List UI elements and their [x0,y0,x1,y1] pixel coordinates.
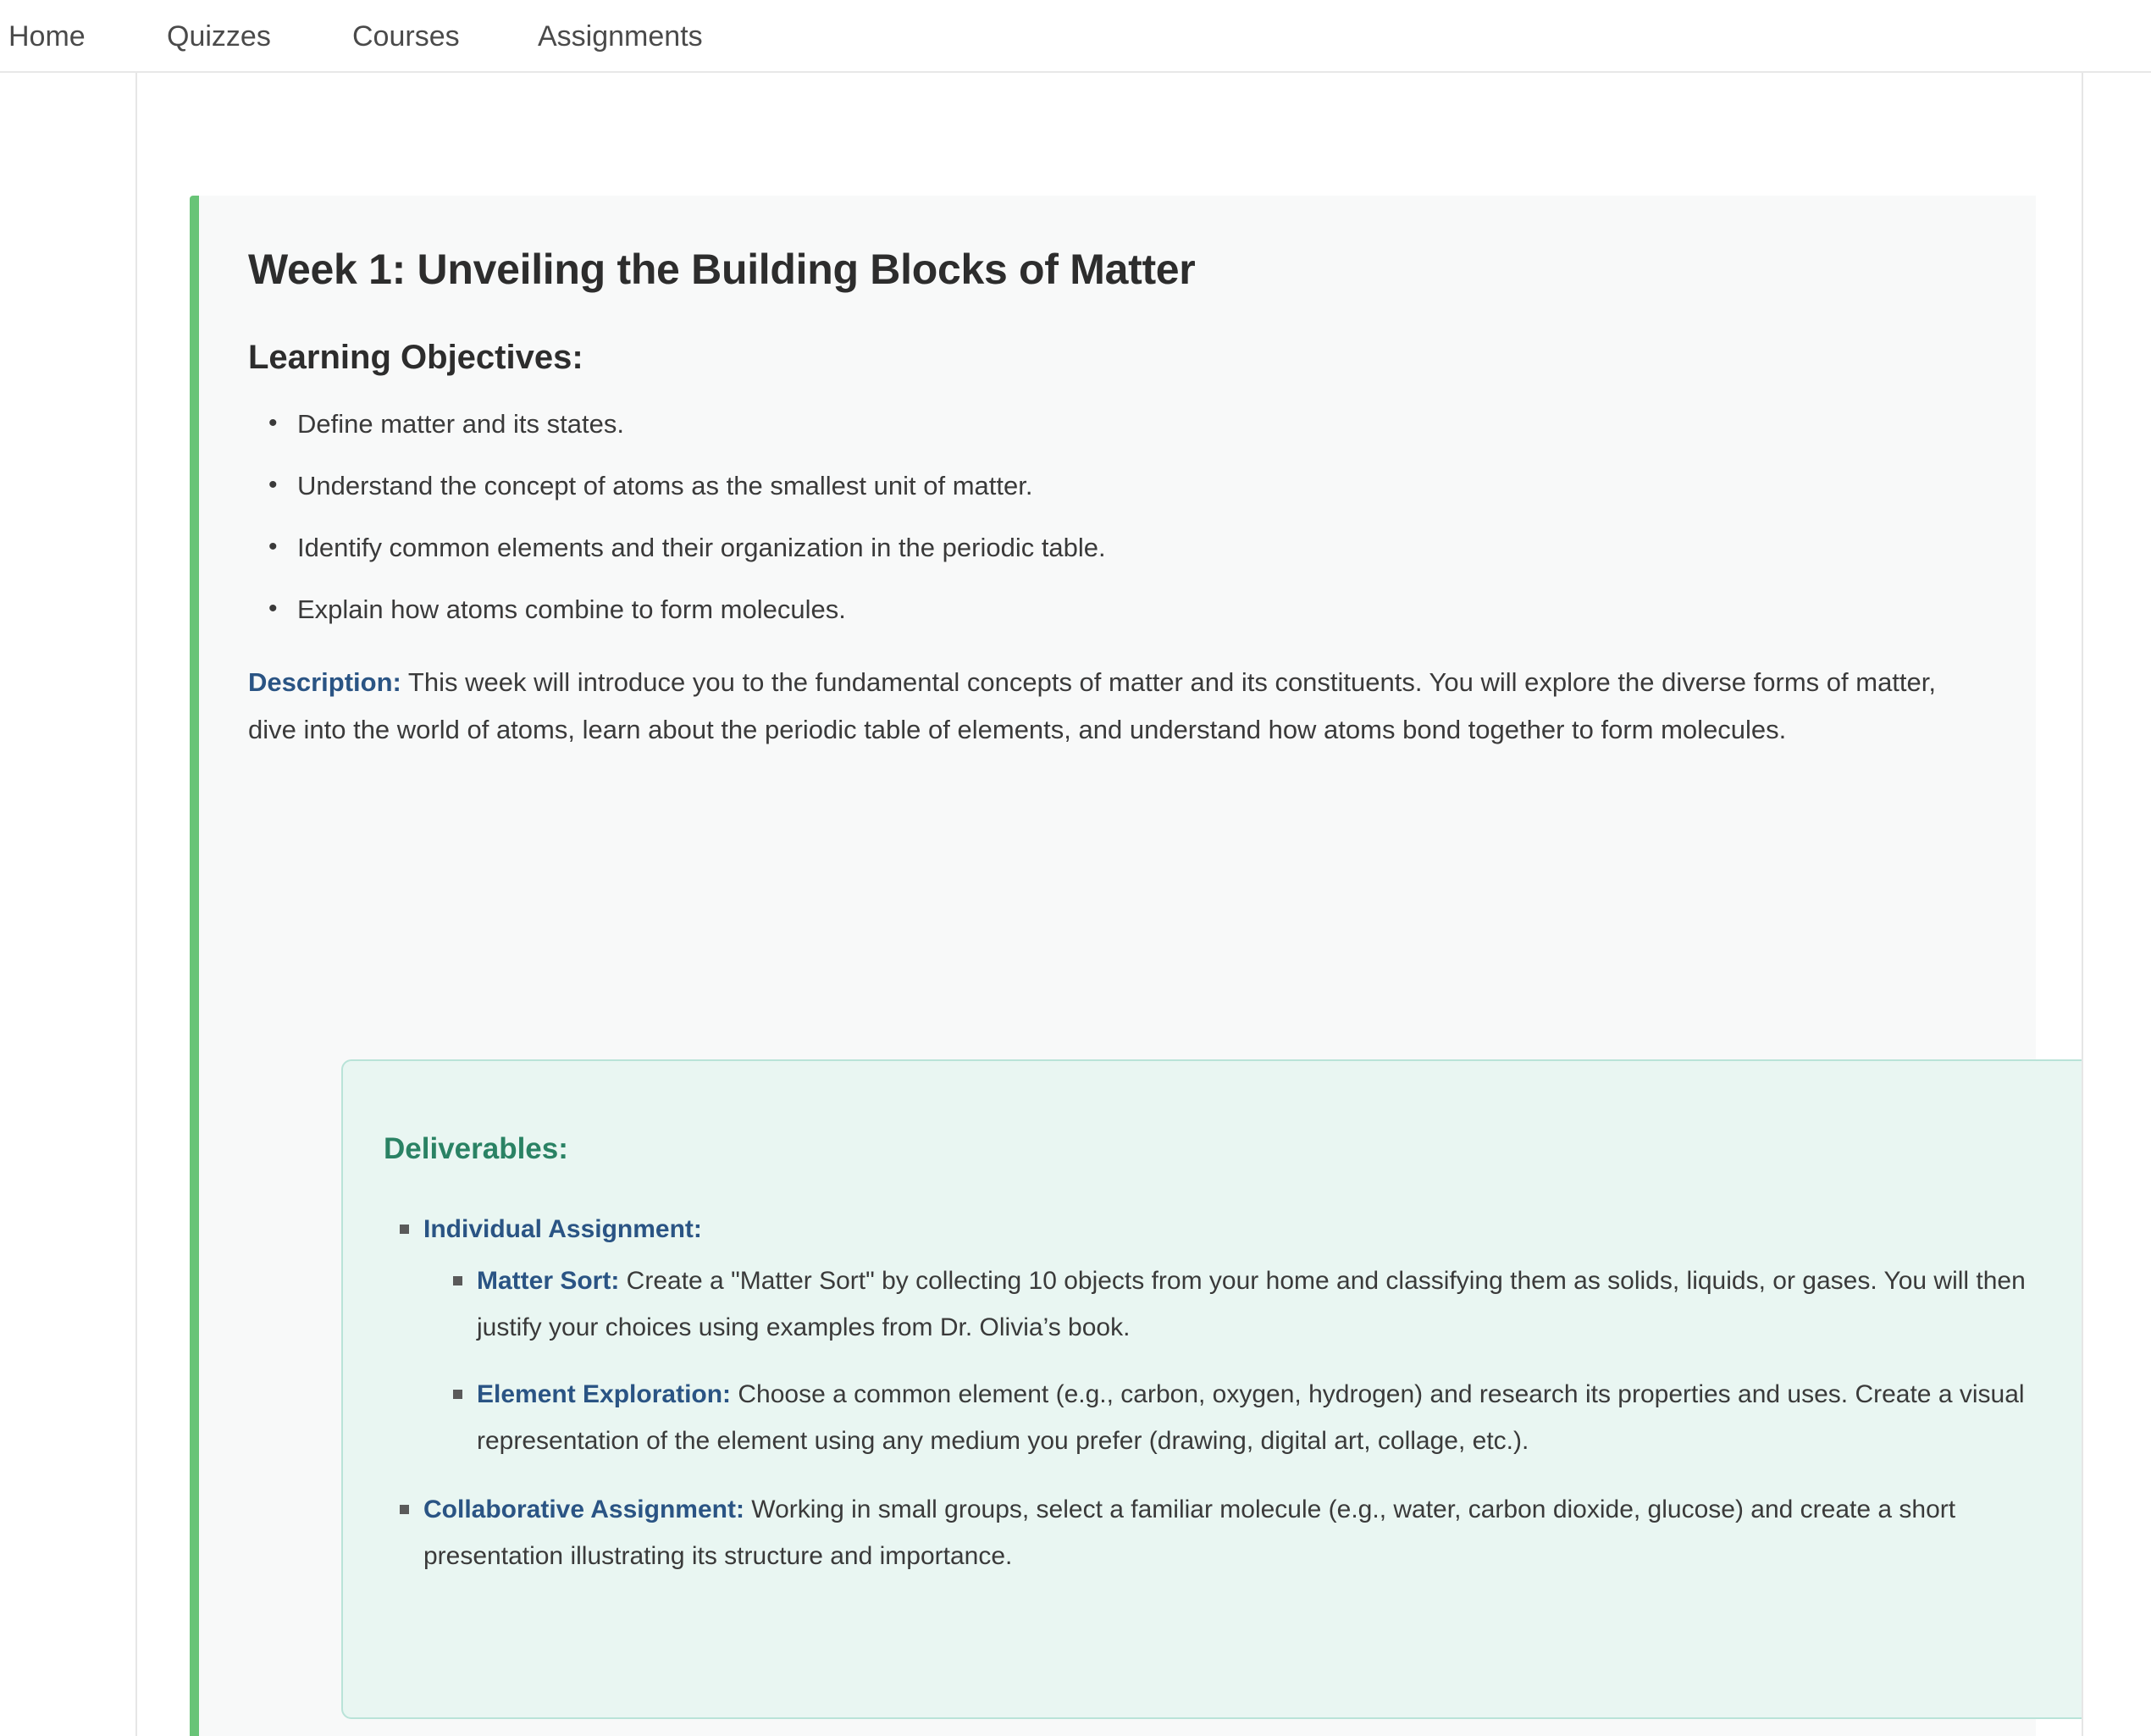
list-item: Identify common elements and their organ… [297,529,1977,567]
top-navigation-bar: Home Quizzes Courses Assignments [0,0,2151,73]
list-item-element-exploration: Element Exploration: Choose a common ele… [477,1371,2069,1464]
individual-assignment-sublist: Matter Sort: Create a "Matter Sort" by c… [423,1258,2082,1464]
element-exploration-label: Element Exploration: [477,1380,731,1408]
list-item: Define matter and its states. [297,406,1977,443]
list-item-individual-assignment: Individual Assignment: Matter Sort: Crea… [423,1206,2082,1464]
matter-sort-text: Create a "Matter Sort" by collecting 10 … [477,1267,2026,1341]
description-paragraph: Description: This week will introduce yo… [248,659,1986,754]
list-item-collaborative-assignment: Collaborative Assignment: Working in sma… [423,1486,2071,1579]
deliverables-list: Individual Assignment: Matter Sort: Crea… [343,1206,2082,1579]
nav-link-quizzes[interactable]: Quizzes [167,14,271,58]
week-heading: Week 1: Unveiling the Building Blocks of… [248,243,1977,296]
collaborative-assignment-label: Collaborative Assignment: [423,1496,744,1523]
week-module-card: Week 1: Unveiling the Building Blocks of… [190,196,2036,1736]
page-frame: Chemistry Unit: Exploring the Building B… [135,73,2083,1736]
nav-link-courses[interactable]: Courses [352,14,460,58]
learning-objectives-heading: Learning Objectives: [248,336,1977,379]
document-content: Chemistry Unit: Exploring the Building B… [137,73,2082,1736]
individual-assignment-label: Individual Assignment: [423,1215,702,1243]
list-item-matter-sort: Matter Sort: Create a "Matter Sort" by c… [477,1258,2069,1351]
nav-link-assignments[interactable]: Assignments [538,14,703,58]
deliverables-heading: Deliverables: [343,1061,2082,1169]
description-label: Description: [248,667,401,697]
deliverables-panel: Deliverables: Individual Assignment: Mat… [341,1059,2082,1719]
matter-sort-label: Matter Sort: [477,1267,619,1295]
learning-objectives-list: Define matter and its states. Understand… [248,406,1977,628]
nav-link-home[interactable]: Home [8,14,86,58]
list-item: Explain how atoms combine to form molecu… [297,591,1977,628]
list-item: Understand the concept of atoms as the s… [297,467,1977,505]
description-text: This week will introduce you to the fund… [248,667,1936,744]
